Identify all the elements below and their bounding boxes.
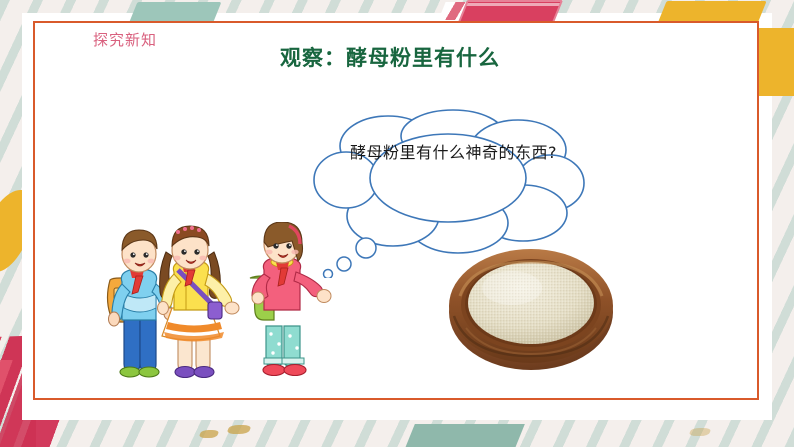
page-title: 观察：酵母粉里有什么: [280, 42, 500, 72]
kid-girl-right: [250, 222, 331, 376]
slide: 探究新知 观察：酵母粉里有什么 酵母粉里有什么神奇的东西?: [0, 0, 794, 447]
section-tag: 探究新知: [93, 29, 157, 50]
decor-block-teal-bottom: [405, 424, 525, 447]
kids-illustration: [104, 222, 344, 380]
kids-illustration-svg: [104, 222, 344, 380]
thought-bubble-text: 酵母粉里有什么神奇的东西?: [350, 136, 565, 170]
yeast-bowl-image: [446, 236, 616, 378]
kid-girl-middle: [158, 226, 240, 378]
yeast-bowl-svg: [446, 236, 616, 378]
